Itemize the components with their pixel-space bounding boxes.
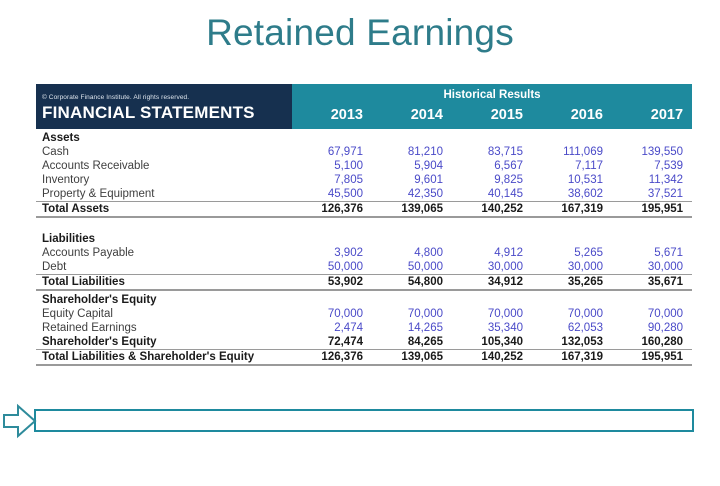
row-value-2016: 70,000: [532, 307, 612, 321]
row-value-2014: 9,601: [372, 173, 452, 187]
row-label: Total Liabilities & Shareholder's Equity: [36, 350, 292, 366]
column-header-year-2016: 2016: [532, 102, 612, 129]
row-value-2014: 4,800: [372, 246, 452, 260]
row-label: Accounts Payable: [36, 246, 292, 260]
row-value-2013: [292, 129, 372, 145]
table-row: Accounts Payable3,9024,8004,9125,2655,67…: [36, 246, 692, 260]
row-value-2013: 50,000: [292, 260, 372, 275]
row-label: Property & Equipment: [36, 187, 292, 202]
row-value-2014: 139,065: [372, 350, 452, 366]
row-label: Equity Capital: [36, 307, 292, 321]
row-value-2013: [292, 230, 372, 246]
row-value-2013: 72,474: [292, 335, 372, 350]
row-label: Assets: [36, 129, 292, 145]
table-row: Assets: [36, 129, 692, 145]
group-header-historical-results: Historical Results: [292, 84, 692, 102]
row-value-2014: 5,904: [372, 159, 452, 173]
row-value-2013: 126,376: [292, 202, 372, 218]
row-value-2015: 30,000: [452, 260, 532, 275]
row-value-2013: 45,500: [292, 187, 372, 202]
table-row: Equity Capital70,00070,00070,00070,00070…: [36, 307, 692, 321]
row-value-2016: 111,069: [532, 145, 612, 159]
row-value-2014: [372, 129, 452, 145]
column-header-year-2017: 2017: [612, 102, 692, 129]
row-value-2015: 6,567: [452, 159, 532, 173]
table-row: Inventory7,8059,6019,82510,53111,342: [36, 173, 692, 187]
statement-name: FINANCIAL STATEMENTS: [36, 102, 292, 129]
row-value-2013: 53,902: [292, 275, 372, 291]
row-value-2015: 83,715: [452, 145, 532, 159]
row-value-2017: 5,671: [612, 246, 692, 260]
page-title: Retained Earnings: [0, 0, 720, 55]
row-label: Liabilities: [36, 230, 292, 246]
row-value-2014: 139,065: [372, 202, 452, 218]
row-value-2016: 62,053: [532, 321, 612, 335]
header-row-top: © Corporate Finance Institute. All right…: [36, 84, 692, 102]
spacer-cell: [36, 217, 692, 230]
row-value-2014: 50,000: [372, 260, 452, 275]
row-value-2017: 37,521: [612, 187, 692, 202]
row-label: Debt: [36, 260, 292, 275]
table-row: Cash67,97181,21083,715111,069139,550: [36, 145, 692, 159]
row-value-2017: 195,951: [612, 202, 692, 218]
row-value-2013: 2,474: [292, 321, 372, 335]
table-row: Liabilities: [36, 230, 692, 246]
slide-canvas: Retained Earnings © Corporate Finance In…: [0, 0, 720, 486]
table-row: Debt50,00050,00030,00030,00030,000: [36, 260, 692, 275]
row-value-2017: 90,280: [612, 321, 692, 335]
row-value-2016: 38,602: [532, 187, 612, 202]
row-value-2014: 42,350: [372, 187, 452, 202]
column-header-year-2014: 2014: [372, 102, 452, 129]
row-value-2017: 139,550: [612, 145, 692, 159]
row-label: Total Liabilities: [36, 275, 292, 291]
table-row: Total Assets126,376139,065140,252167,319…: [36, 202, 692, 218]
row-value-2015: 140,252: [452, 202, 532, 218]
column-header-year-2013: 2013: [292, 102, 372, 129]
row-value-2015: 40,145: [452, 187, 532, 202]
row-value-2016: [532, 290, 612, 307]
row-value-2017: 70,000: [612, 307, 692, 321]
row-value-2016: 35,265: [532, 275, 612, 291]
row-value-2014: [372, 230, 452, 246]
row-label: Retained Earnings: [36, 321, 292, 335]
row-value-2014: 84,265: [372, 335, 452, 350]
row-value-2013: [292, 290, 372, 307]
row-value-2017: 11,342: [612, 173, 692, 187]
row-label: Accounts Receivable: [36, 159, 292, 173]
table-row: Shareholder's Equity72,47484,265105,3401…: [36, 335, 692, 350]
row-value-2017: 35,671: [612, 275, 692, 291]
row-value-2013: 3,902: [292, 246, 372, 260]
row-value-2013: 5,100: [292, 159, 372, 173]
row-value-2016: 167,319: [532, 202, 612, 218]
row-value-2013: 7,805: [292, 173, 372, 187]
table-row: Property & Equipment45,50042,35040,14538…: [36, 187, 692, 202]
right-arrow-callout-icon: [2, 402, 38, 440]
row-value-2016: 10,531: [532, 173, 612, 187]
row-value-2015: 4,912: [452, 246, 532, 260]
row-value-2015: 34,912: [452, 275, 532, 291]
row-label: Total Assets: [36, 202, 292, 218]
row-value-2013: 126,376: [292, 350, 372, 366]
row-value-2017: 30,000: [612, 260, 692, 275]
table-row: Total Liabilities & Shareholder's Equity…: [36, 350, 692, 366]
retained-earnings-highlight-box: [34, 409, 694, 432]
table-row: Accounts Receivable5,1005,9046,5677,1177…: [36, 159, 692, 173]
table-row: Total Liabilities53,90254,80034,91235,26…: [36, 275, 692, 291]
row-value-2015: 9,825: [452, 173, 532, 187]
row-value-2015: [452, 290, 532, 307]
row-value-2015: [452, 129, 532, 145]
row-value-2016: 7,117: [532, 159, 612, 173]
row-label: Cash: [36, 145, 292, 159]
table-row: Retained Earnings2,47414,26535,34062,053…: [36, 321, 692, 335]
row-value-2015: [452, 230, 532, 246]
row-value-2017: [612, 129, 692, 145]
copyright-notice: © Corporate Finance Institute. All right…: [36, 84, 292, 102]
row-label: Inventory: [36, 173, 292, 187]
row-value-2014: 70,000: [372, 307, 452, 321]
row-label: Shareholder's Equity: [36, 290, 292, 307]
row-value-2015: 105,340: [452, 335, 532, 350]
column-header-year-2015: 2015: [452, 102, 532, 129]
row-value-2017: 7,539: [612, 159, 692, 173]
row-value-2014: 54,800: [372, 275, 452, 291]
row-value-2017: [612, 290, 692, 307]
row-value-2017: [612, 230, 692, 246]
row-value-2016: 167,319: [532, 350, 612, 366]
financial-statements-table: © Corporate Finance Institute. All right…: [36, 84, 692, 366]
row-value-2016: 132,053: [532, 335, 612, 350]
table-row: Shareholder's Equity: [36, 290, 692, 307]
row-value-2017: 195,951: [612, 350, 692, 366]
table-header: © Corporate Finance Institute. All right…: [36, 84, 692, 129]
row-value-2017: 160,280: [612, 335, 692, 350]
header-row-years: FINANCIAL STATEMENTS 2013 2014 2015 2016…: [36, 102, 692, 129]
row-value-2013: 70,000: [292, 307, 372, 321]
row-value-2014: 14,265: [372, 321, 452, 335]
row-label: Shareholder's Equity: [36, 335, 292, 350]
row-value-2015: 70,000: [452, 307, 532, 321]
row-value-2016: 5,265: [532, 246, 612, 260]
row-value-2015: 140,252: [452, 350, 532, 366]
row-value-2014: 81,210: [372, 145, 452, 159]
row-value-2016: [532, 230, 612, 246]
row-value-2015: 35,340: [452, 321, 532, 335]
table-body: AssetsCash67,97181,21083,715111,069139,5…: [36, 129, 692, 365]
row-value-2016: [532, 129, 612, 145]
row-value-2013: 67,971: [292, 145, 372, 159]
table-spacer-row: [36, 217, 692, 230]
row-value-2016: 30,000: [532, 260, 612, 275]
row-value-2014: [372, 290, 452, 307]
